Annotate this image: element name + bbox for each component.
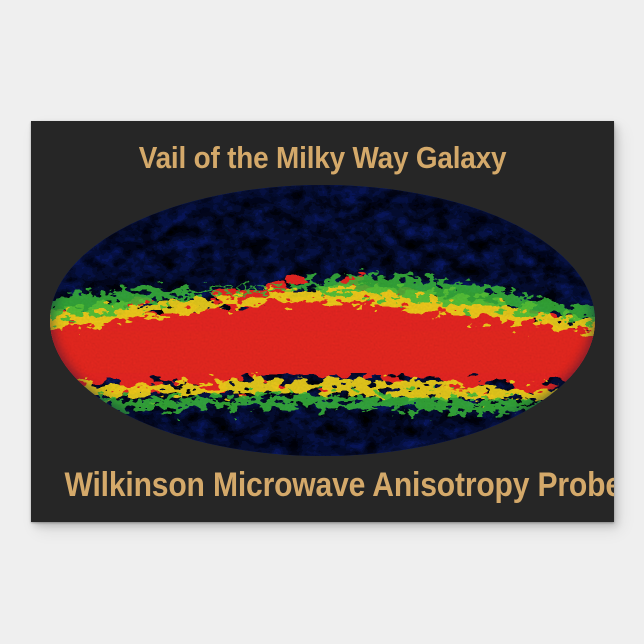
- galactic-plane-fringe: [50, 185, 595, 456]
- screenshot-stage: Vail of the Milky Way Galaxy: [0, 0, 644, 644]
- galactic-plane-band: [50, 185, 595, 456]
- galactic-plane-green-fringe: [50, 185, 595, 456]
- cmb-hot-speckles: [50, 185, 595, 456]
- sticker-subtitle: Wilkinson Microwave Anisotropy Probe: [65, 468, 581, 502]
- cmb-noise-yellow: [50, 185, 595, 456]
- cmb-noise-base: [50, 185, 595, 456]
- cmb-noise-green: [50, 185, 595, 456]
- sticker-sheet[interactable]: Vail of the Milky Way Galaxy: [31, 121, 614, 522]
- sticker-title: Vail of the Milky Way Galaxy: [60, 142, 585, 173]
- cmb-noise-red-speckle: [50, 185, 595, 456]
- cmb-cold-patches: [50, 185, 595, 456]
- cmb-pixel-texture: [50, 185, 595, 456]
- cmb-map-figure: [50, 185, 595, 456]
- cmb-noise-cyan: [50, 185, 595, 456]
- wmap-cmb-all-sky-map: [50, 185, 595, 456]
- cmb-rim-vignette: [50, 185, 595, 456]
